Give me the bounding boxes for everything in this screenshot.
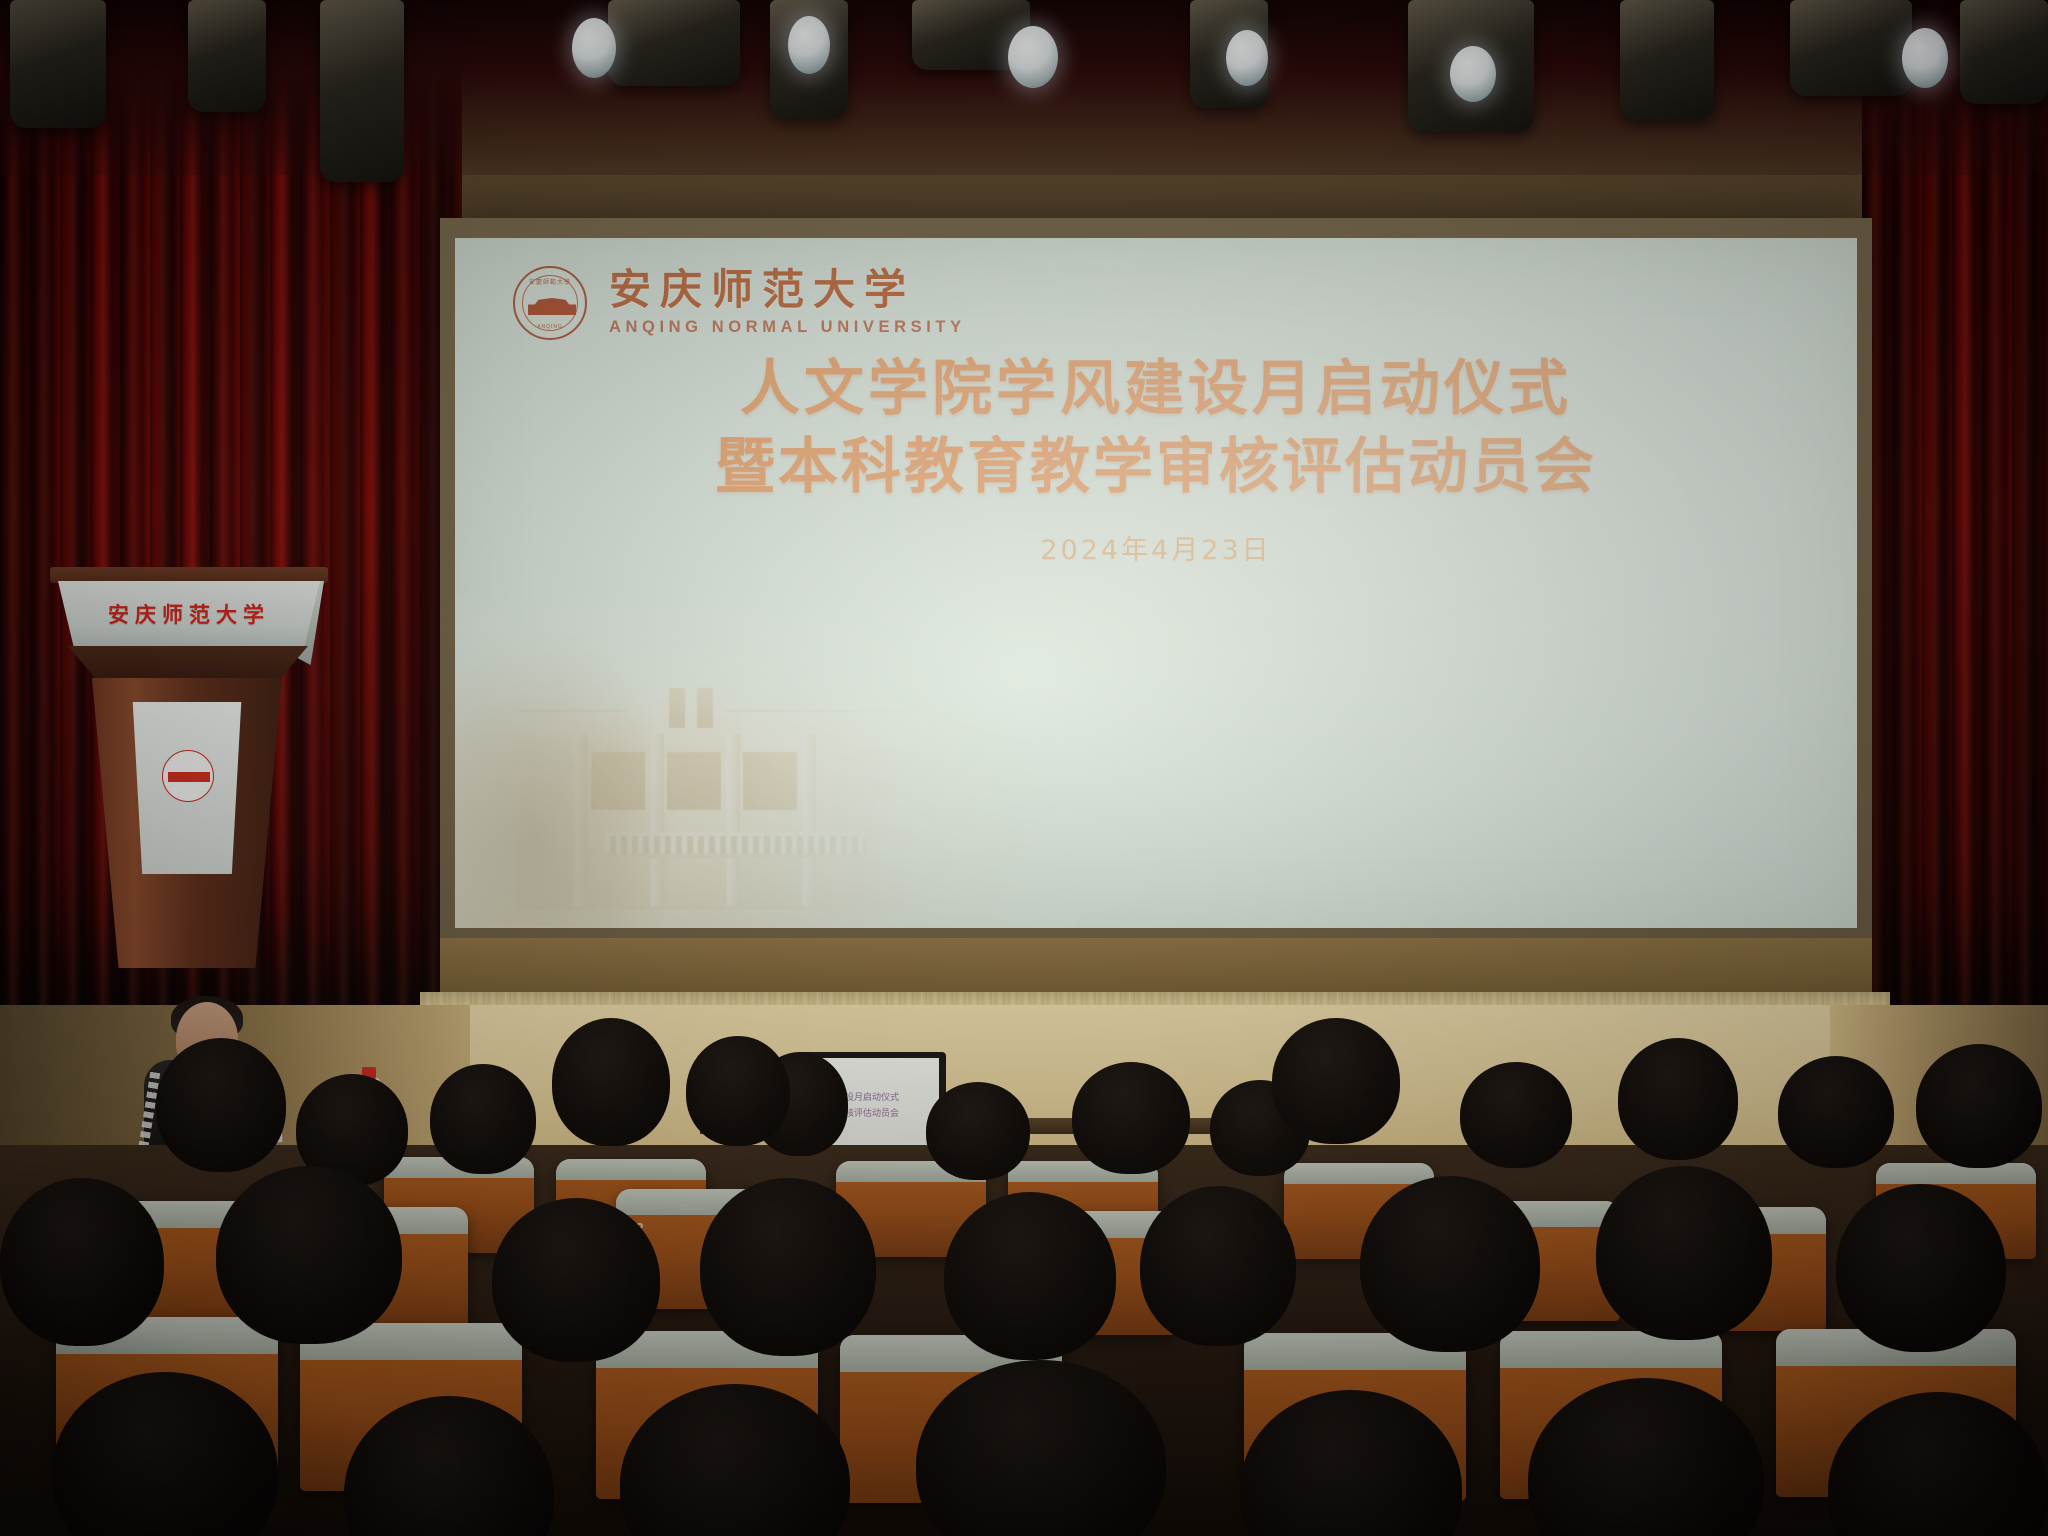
stage-light-fixture [1790,0,1912,96]
audience-member [686,1036,790,1146]
laptop-screen-line-1: 设月启动仪式 [845,1090,899,1103]
audience-member [1072,1062,1190,1174]
slide-title: 人文学院学风建设月启动仪式 暨本科教育教学审核评估动员会 [455,350,1857,506]
audience-member [156,1038,286,1172]
audience-member [944,1192,1116,1360]
seal-text-top: 安慶師範大學 [515,277,585,286]
slide-background-building-image [455,598,1075,928]
audience-member [216,1166,402,1344]
audience-member [1916,1044,2042,1168]
audience-member [1360,1176,1540,1352]
audience-member [0,1178,164,1346]
audience-member [492,1198,660,1362]
podium-nameplate-panel: 安庆师范大学 [58,581,320,647]
stage-light-bulb [1902,28,1948,88]
stage-light-fixture [188,0,266,112]
podium: 安庆师范大学 [40,560,340,1040]
stage-light-fixture [608,0,740,86]
stage-curtain-right [1862,0,2048,1010]
university-name-en: ANQING NORMAL UNIVERSITY [609,318,966,337]
screen-lower-valance [440,938,1872,1000]
stage-light-fixture [1620,0,1714,120]
stage-light-bulb [572,18,616,78]
audience-member [1618,1038,1738,1160]
slide-title-line-1: 人文学院学风建设月启动仪式 [455,350,1857,428]
slide-date: 2024年4月23日 [455,528,1857,567]
audience-member [552,1018,670,1146]
seal-text-bottom: ANQING [515,324,585,330]
audience-member [1140,1186,1296,1346]
auditorium-scene: 安慶師範大學 ANQING 安庆师范大学 ANQING NORMAL UNIVE… [0,0,2048,1536]
stage-light-bulb [1008,26,1058,88]
stage-light-bulb [788,16,830,74]
stage-light-bulb [1450,46,1496,102]
university-logo-lockup: 安慶師範大學 ANQING 安庆师范大学 ANQING NORMAL UNIVE… [513,266,966,340]
audience-member [1836,1184,2006,1352]
audience-member [926,1082,1030,1180]
university-seal-icon: 安慶師範大學 ANQING [513,266,587,340]
audience-member [1596,1166,1772,1340]
podium-nameplate-text: 安庆师范大学 [108,599,270,629]
seal-building-icon [528,298,576,315]
audience-member [1460,1062,1572,1168]
audience-member [430,1064,536,1174]
university-name-cn: 安庆师范大学 [609,269,966,311]
stage-light-fixture [1960,0,2048,104]
podium-top-edge [50,567,328,583]
laptop-screen-line-2: 核评估动员会 [845,1106,899,1119]
audience-member [1272,1018,1400,1144]
podium-emblem-icon [162,750,214,802]
podium-apron [68,646,308,680]
audience-member [700,1178,876,1356]
projection-screen: 安慶師範大學 ANQING 安庆师范大学 ANQING NORMAL UNIVE… [455,238,1857,928]
stage-light-bulb [1226,30,1268,86]
slide-title-line-2: 暨本科教育教学审核评估动员会 [455,428,1857,506]
stage-light-fixture [10,0,106,128]
audience-member [1778,1056,1894,1168]
stage-light-fixture [320,0,404,182]
